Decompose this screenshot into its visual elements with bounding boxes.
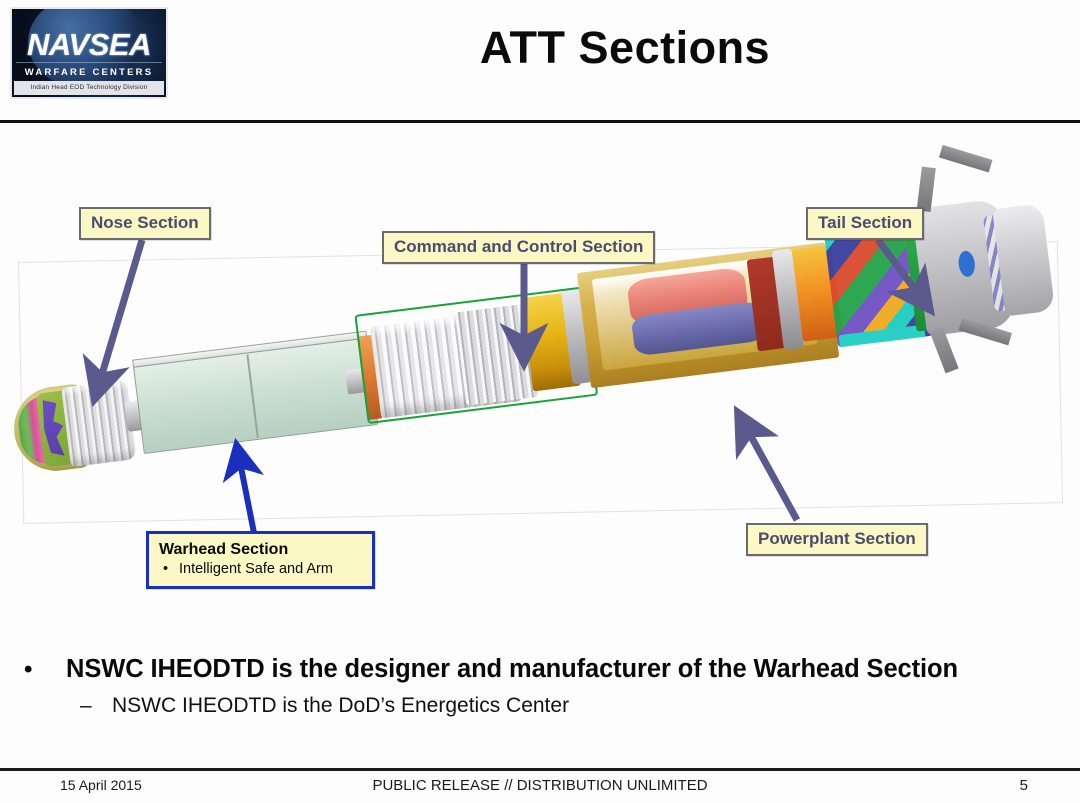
callout-warhead-section[interactable]: Warhead Section • Intelligent Safe and A… [146,531,375,589]
callout-nose-section[interactable]: Nose Section [79,207,211,240]
tail-fin-bottom-1 [930,327,959,373]
body-bullet-1: • NSWC IHEODTD is the designer and manuf… [0,655,1080,684]
tail-fin-top-2 [939,145,993,173]
slide-header: NAVSEA WARFARE CENTERS Indian Head EOD T… [0,0,1080,122]
slide: NAVSEA WARFARE CENTERS Indian Head EOD T… [0,0,1080,803]
body-content: • NSWC IHEODTD is the designer and manuf… [0,655,1080,718]
callout-command-control-section[interactable]: Command and Control Section [382,231,655,264]
footer-classification: PUBLIC RELEASE // DISTRIBUTION UNLIMITED [0,777,1080,794]
nose-ribbed-cylinder [61,380,136,468]
footer-page-number: 5 [1020,777,1028,794]
navsea-subtitle: WARFARE CENTERS [12,67,166,78]
cc-green-outline [354,286,598,424]
bullet-dot-icon: • [163,560,179,579]
body-bullet-1-sub-text: NSWC IHEODTD is the DoD’s Energetics Cen… [112,694,569,718]
page-title: ATT Sections [180,22,1070,74]
logo-divider [16,62,162,63]
navsea-division: Indian Head EOD Technology Division [14,81,164,95]
bullet-dash-icon: – [80,694,112,718]
callout-warhead-bullet-text: Intelligent Safe and Arm [179,560,333,579]
callout-warhead-bullet-row: • Intelligent Safe and Arm [159,560,364,579]
callout-tail-section[interactable]: Tail Section [806,207,924,240]
footer-divider [0,768,1080,771]
header-divider [0,120,1080,123]
navsea-logo-inner: NAVSEA WARFARE CENTERS Indian Head EOD T… [12,9,166,97]
tail-fin-top-1 [917,167,936,212]
callout-powerplant-section[interactable]: Powerplant Section [746,523,928,556]
slide-footer: 15 April 2015 PUBLIC RELEASE // DISTRIBU… [0,772,1080,803]
navsea-wordmark: NAVSEA [12,27,166,63]
callout-warhead-title: Warhead Section [159,540,364,560]
body-bullet-1-sub: – NSWC IHEODTD is the DoD’s Energetics C… [0,694,1080,718]
body-bullet-1-text: NSWC IHEODTD is the designer and manufac… [66,655,958,684]
bullet-dot-icon: • [24,658,66,682]
navsea-logo: NAVSEA WARFARE CENTERS Indian Head EOD T… [10,7,168,99]
